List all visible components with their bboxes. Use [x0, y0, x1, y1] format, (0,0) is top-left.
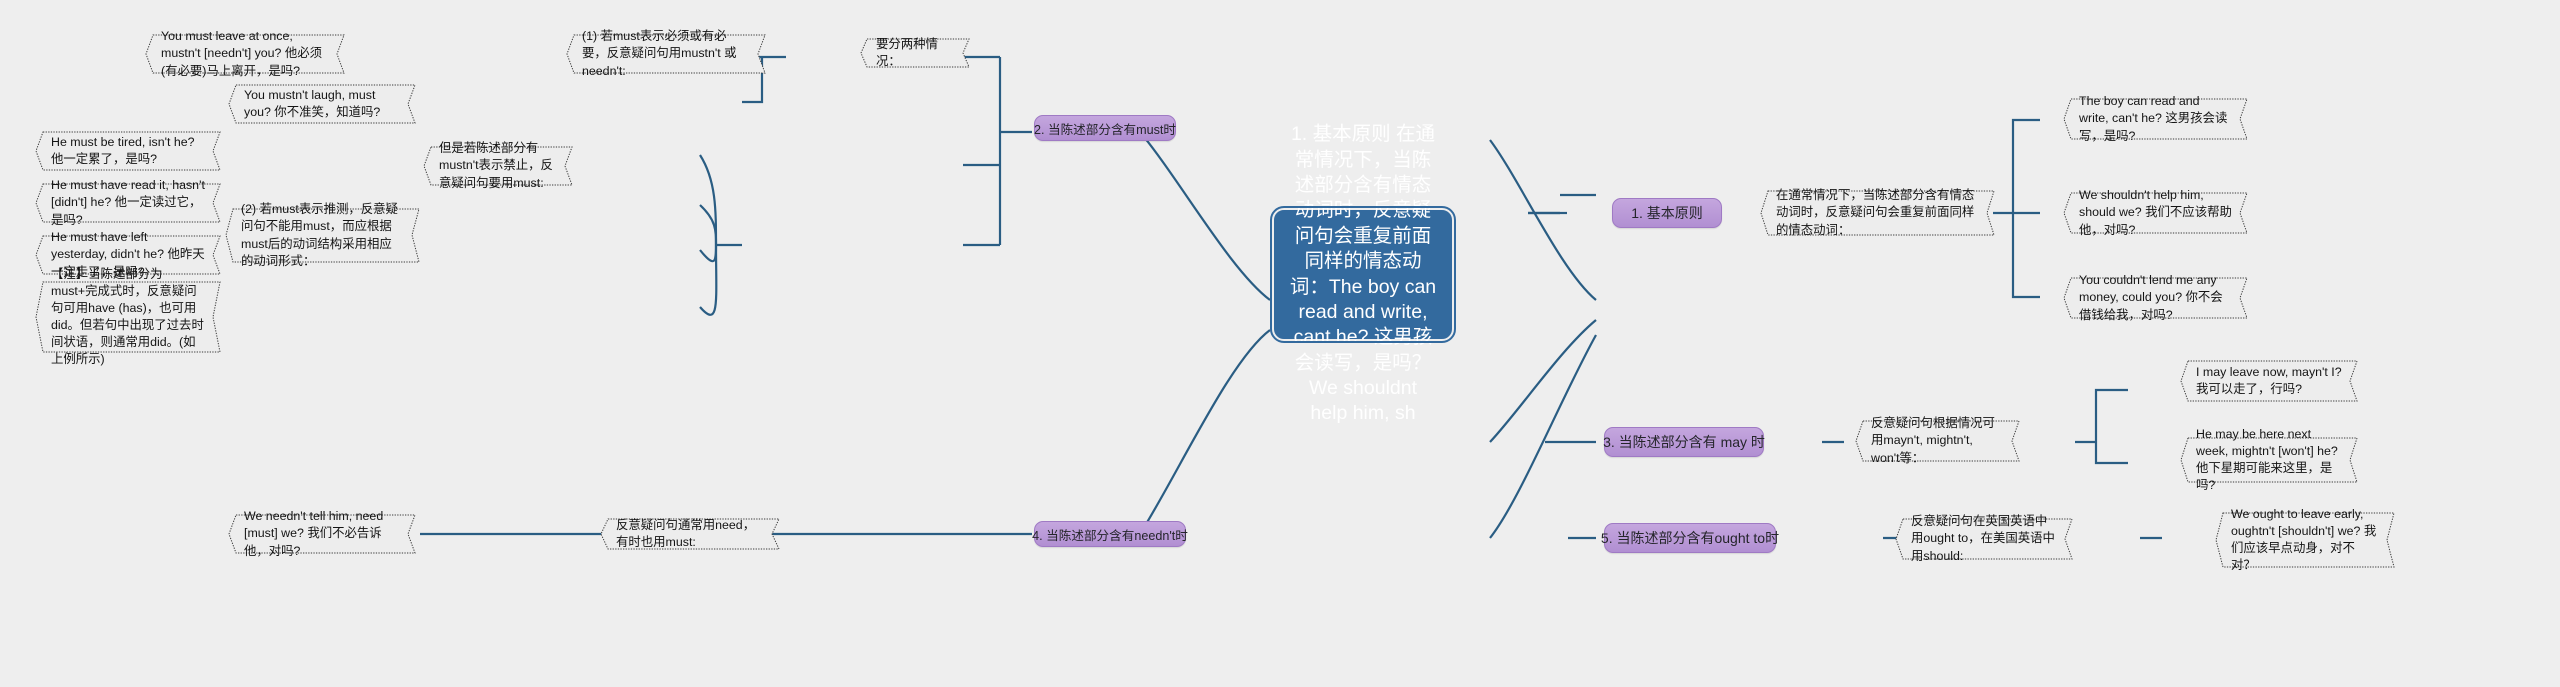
node-two-cases-label: 要分两种情况： — [860, 38, 970, 68]
node-mustnt-prohibition[interactable]: 但是若陈述部分有mustn't表示禁止，反意疑问句要用must: — [423, 146, 573, 186]
branch-ought-to[interactable]: 5. 当陈述部分含有ought to时 — [1604, 523, 1776, 553]
branch-basic-rule-label: 1. 基本原则 — [1631, 203, 1703, 223]
node-example-must-be-tired-label: He must be tired, isn't he? 他一定累了，是吗? — [35, 131, 221, 171]
node-example-shouldnt-help-label: We shouldn't help him, should we? 我们不应该帮… — [2063, 192, 2248, 234]
node-example-ought-leave-early[interactable]: We ought to leave early, oughtn't [shoul… — [2215, 512, 2395, 568]
node-must-perfect-note-label: 【注】当陈述部分为must+完成式时，反意疑问句可用have (has)，也可用… — [35, 281, 221, 353]
node-example-must-leave-label: You must leave at once, mustn't [needn't… — [145, 34, 345, 74]
node-may-desc-label: 反意疑问句根据情况可用mayn't, mightn't, won't等： — [1855, 420, 2020, 462]
root-label: 1. 基本原则 在通常情况下，当陈述部分含有情态动词时，反意疑问句会重复前面同样… — [1288, 122, 1438, 426]
node-basic-rule-desc[interactable]: 在通常情况下，当陈述部分含有情态动词时，反意疑问句会重复前面同样的情态动词： — [1760, 190, 1995, 236]
node-two-cases[interactable]: 要分两种情况： — [860, 38, 970, 68]
node-example-neednt-tell[interactable]: We needn't tell him, need [must] we? 我们不… — [228, 514, 416, 554]
node-mustnt-prohibition-label: 但是若陈述部分有mustn't表示禁止，反意疑问句要用must: — [423, 146, 573, 186]
branch-neednt[interactable]: 4. 当陈述部分含有needn't时 — [1034, 521, 1186, 547]
node-example-must-have-read-label: He must have read it, hasn't [didn't] he… — [35, 183, 221, 223]
root-node[interactable]: 1. 基本原则 在通常情况下，当陈述部分含有情态动词时，反意疑问句会重复前面同样… — [1272, 208, 1454, 341]
node-example-mustnt-laugh[interactable]: You mustn't laugh, must you? 你不准笑，知道吗? — [228, 84, 416, 124]
node-example-mustnt-laugh-label: You mustn't laugh, must you? 你不准笑，知道吗? — [228, 84, 416, 124]
branch-neednt-label: 4. 当陈述部分含有needn't时 — [1032, 525, 1188, 544]
node-example-couldnt-lend-label: You couldn't lend me any money, could yo… — [2063, 277, 2248, 319]
node-neednt-desc-label: 反意疑问句通常用need，有时也用must: — [600, 518, 780, 550]
node-must-case-2-label: (2) 若must表示推测，反意疑问句不能用must，而应根据must后的动词结… — [225, 208, 420, 263]
node-example-couldnt-lend[interactable]: You couldn't lend me any money, could yo… — [2063, 277, 2248, 319]
node-example-must-leave[interactable]: You must leave at once, mustn't [needn't… — [145, 34, 345, 74]
node-example-may-be-here[interactable]: He may be here next week, mightn't [won'… — [2180, 437, 2358, 483]
node-ought-to-desc[interactable]: 反意疑问句在英国英语中用ought to，在美国英语中用should: — [1895, 518, 2073, 560]
node-example-must-be-tired[interactable]: He must be tired, isn't he? 他一定累了，是吗? — [35, 131, 221, 171]
node-example-boy-read-write[interactable]: The boy can read and write, can't he? 这男… — [2063, 98, 2248, 140]
node-may-desc[interactable]: 反意疑问句根据情况可用mayn't, mightn't, won't等： — [1855, 420, 2020, 462]
node-example-may-leave-now[interactable]: I may leave now, mayn't I? 我可以走了，行吗? — [2180, 360, 2358, 402]
node-must-case-2[interactable]: (2) 若must表示推测，反意疑问句不能用must，而应根据must后的动词结… — [225, 208, 420, 263]
node-example-neednt-tell-label: We needn't tell him, need [must] we? 我们不… — [228, 514, 416, 554]
branch-may[interactable]: 3. 当陈述部分含有 may 时 — [1604, 427, 1764, 457]
node-example-may-leave-now-label: I may leave now, mayn't I? 我可以走了，行吗? — [2180, 360, 2358, 402]
node-must-case-1[interactable]: (1) 若must表示必须或有必要，反意疑问句用mustn't 或needn't… — [566, 34, 766, 74]
node-neednt-desc[interactable]: 反意疑问句通常用need，有时也用must: — [600, 518, 780, 550]
node-example-boy-read-write-label: The boy can read and write, can't he? 这男… — [2063, 98, 2248, 140]
mindmap-canvas[interactable]: 1. 基本原则 在通常情况下，当陈述部分含有情态动词时，反意疑问句会重复前面同样… — [0, 0, 2560, 687]
node-must-perfect-note[interactable]: 【注】当陈述部分为must+完成式时，反意疑问句可用have (has)，也可用… — [35, 281, 221, 353]
node-example-may-be-here-label: He may be here next week, mightn't [won'… — [2180, 437, 2358, 483]
node-example-shouldnt-help[interactable]: We shouldn't help him, should we? 我们不应该帮… — [2063, 192, 2248, 234]
branch-basic-rule[interactable]: 1. 基本原则 — [1612, 198, 1722, 228]
branch-must[interactable]: 2. 当陈述部分含有must时 — [1034, 115, 1176, 141]
node-basic-rule-desc-label: 在通常情况下，当陈述部分含有情态动词时，反意疑问句会重复前面同样的情态动词： — [1760, 190, 1995, 236]
node-example-ought-leave-early-label: We ought to leave early, oughtn't [shoul… — [2215, 512, 2395, 568]
node-example-must-have-read[interactable]: He must have read it, hasn't [didn't] he… — [35, 183, 221, 223]
branch-must-label: 2. 当陈述部分含有must时 — [1034, 119, 1176, 138]
node-ought-to-desc-label: 反意疑问句在英国英语中用ought to，在美国英语中用should: — [1895, 518, 2073, 560]
node-must-case-1-label: (1) 若must表示必须或有必要，反意疑问句用mustn't 或needn't… — [566, 34, 766, 74]
branch-may-label: 3. 当陈述部分含有 may 时 — [1603, 432, 1765, 452]
branch-ought-to-label: 5. 当陈述部分含有ought to时 — [1601, 528, 1779, 548]
